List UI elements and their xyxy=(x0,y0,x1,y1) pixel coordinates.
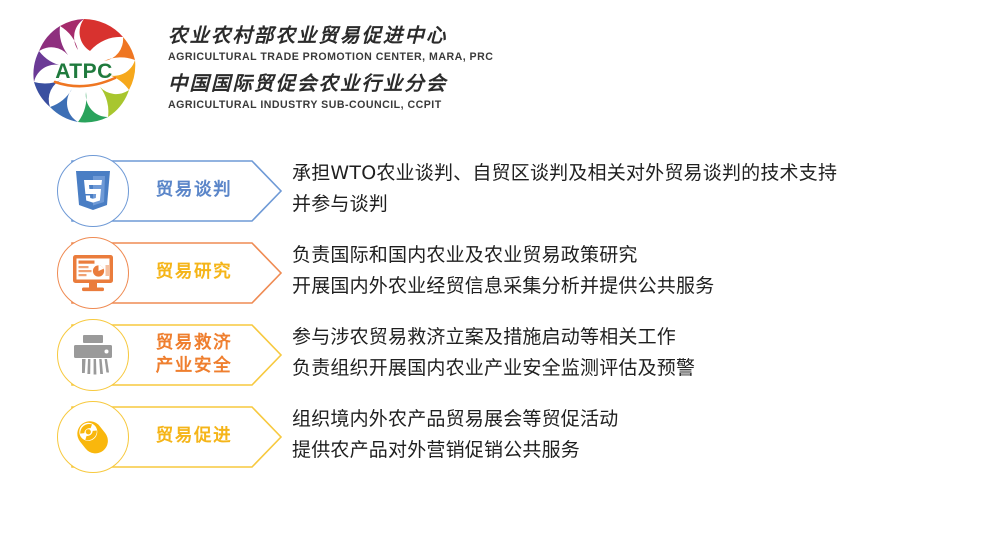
desc-line: 开展国内外农业经贸信息采集分析并提供公共服务 xyxy=(292,271,972,302)
row-label-line: 产业安全 xyxy=(156,355,232,378)
org-name-block: 农业农村部农业贸易促进中心 AGRICULTURAL TRADE PROMOTI… xyxy=(168,24,498,119)
hand-holding-megaphone-icon xyxy=(72,416,114,458)
function-row-trade-negotiation[interactable]: 贸易谈判 承担WTO农业谈判、自贸区谈判及相关对外贸易谈判的技术支持 并参与谈判 xyxy=(0,150,989,232)
org-name-cn-1: 农业农村部农业贸易促进中心 xyxy=(168,24,498,48)
desc-line: 负责组织开展国内农业产业安全监测评估及预警 xyxy=(292,353,972,384)
row-description-2: 负责国际和国内农业及农业贸易政策研究 开展国内外农业经贸信息采集分析并提供公共服… xyxy=(292,240,972,302)
atpc-swirl-logo: ATPC xyxy=(22,12,146,130)
desc-line: 组织境内外农产品贸易展会等贸促活动 xyxy=(292,404,972,435)
row-label-line: 贸易研究 xyxy=(156,261,232,284)
header-logo-lockup: ATPC 农业农村部农业贸易促进中心 AGRICULTURAL TRADE PR… xyxy=(0,0,989,145)
function-rows-list: 贸易谈判 承担WTO农业谈判、自贸区谈判及相关对外贸易谈判的技术支持 并参与谈判 xyxy=(0,150,989,478)
html5-shield-icon xyxy=(74,170,112,212)
row-label-line: 贸易促进 xyxy=(156,425,232,448)
row-label-line: 贸易救济 xyxy=(156,332,232,355)
row-description-3: 参与涉农贸易救济立案及措施启动等相关工作 负责组织开展国内农业产业安全监测评估及… xyxy=(292,322,972,384)
badge-circle-1 xyxy=(57,155,129,227)
row-label-3: 贸易救济 产业安全 xyxy=(138,324,250,386)
desc-line: 并参与谈判 xyxy=(292,189,972,220)
row-label-line: 贸易谈判 xyxy=(156,179,232,202)
row-label-4: 贸易促进 xyxy=(138,406,250,468)
org-name-cn-2: 中国国际贸促会农业行业分会 xyxy=(168,72,498,96)
org-name-en-2: AGRICULTURAL INDUSTRY SUB-COUNCIL, CCPIT xyxy=(168,98,498,112)
row-description-1: 承担WTO农业谈判、自贸区谈判及相关对外贸易谈判的技术支持 并参与谈判 xyxy=(292,158,972,220)
badge-circle-3 xyxy=(57,319,129,391)
function-row-trade-research[interactable]: 贸易研究 负责国际和国内农业及农业贸易政策研究 开展国内外农业经贸信息采集分析并… xyxy=(0,232,989,314)
logo-wordmark: ATPC xyxy=(55,60,113,83)
desc-line: 参与涉农贸易救济立案及措施启动等相关工作 xyxy=(292,322,972,353)
function-row-trade-promotion[interactable]: 贸易促进 组织境内外农产品贸易展会等贸促活动 提供农产品对外营销促销公共服务 xyxy=(0,396,989,478)
desc-line: 负责国际和国内农业及农业贸易政策研究 xyxy=(292,240,972,271)
desktop-monitor-chart-icon xyxy=(71,253,115,293)
row-label-2: 贸易研究 xyxy=(138,242,250,304)
row-label-1: 贸易谈判 xyxy=(138,160,250,222)
desc-line: 承担WTO农业谈判、自贸区谈判及相关对外贸易谈判的技术支持 xyxy=(292,158,972,189)
badge-circle-4 xyxy=(57,401,129,473)
paper-shredder-icon xyxy=(71,334,115,376)
org-name-en-1: AGRICULTURAL TRADE PROMOTION CENTER, MAR… xyxy=(168,50,498,64)
desc-line: 提供农产品对外营销促销公共服务 xyxy=(292,435,972,466)
function-row-trade-remedy[interactable]: 贸易救济 产业安全 参与涉农贸易救济立案及措施启动等相关工作 负责组织开展国内农… xyxy=(0,314,989,396)
badge-circle-2 xyxy=(57,237,129,309)
row-description-4: 组织境内外农产品贸易展会等贸促活动 提供农产品对外营销促销公共服务 xyxy=(292,404,972,466)
